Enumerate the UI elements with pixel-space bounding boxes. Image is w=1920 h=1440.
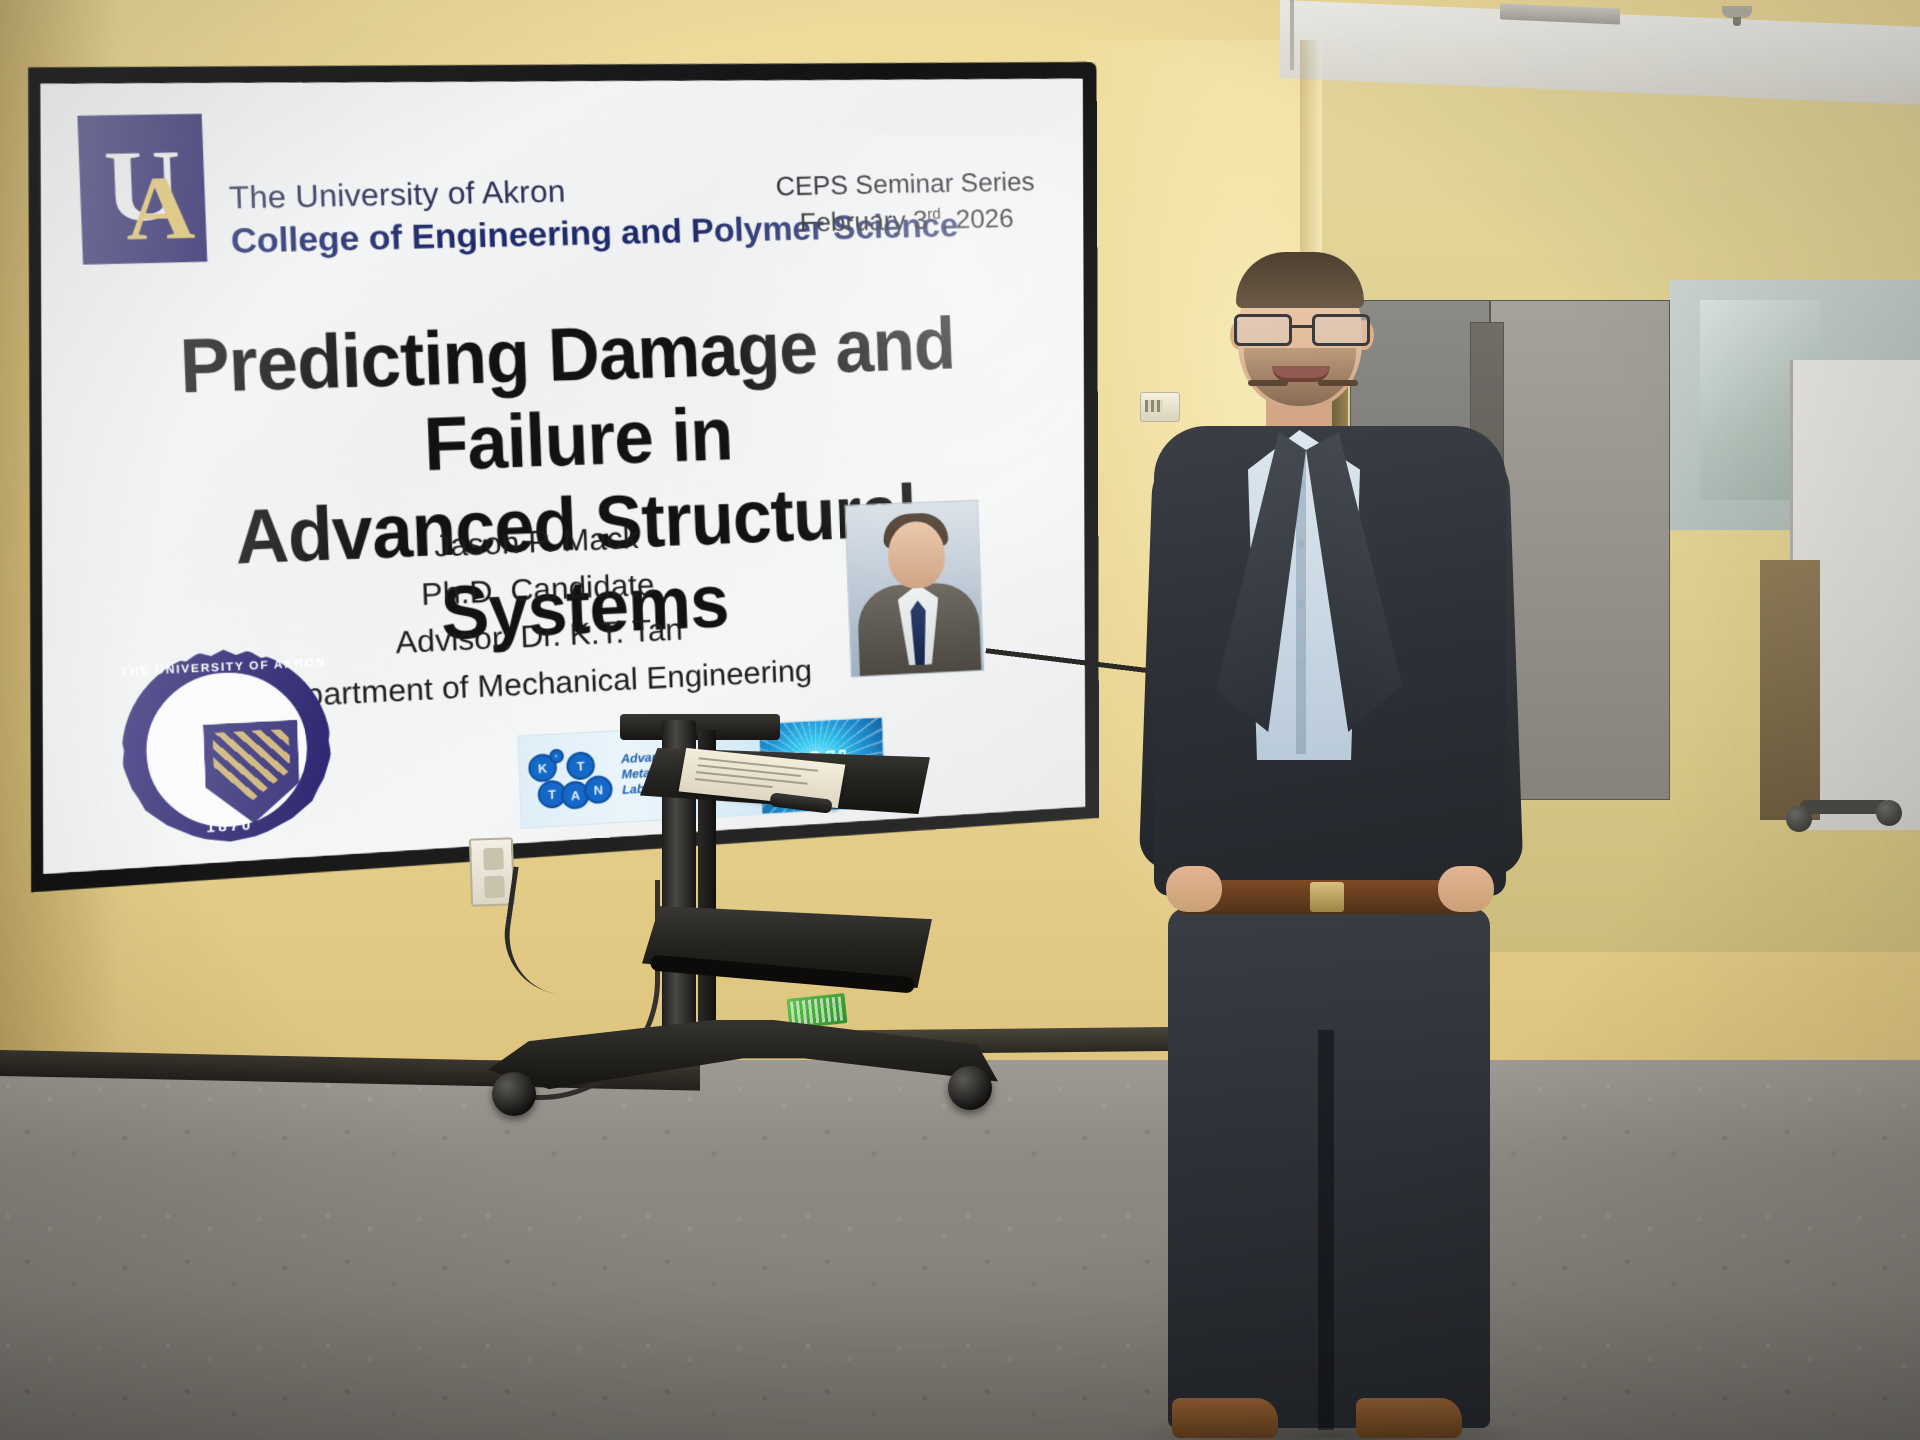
university-of-akron-ua-logo: U A <box>77 114 207 265</box>
presenter-headshot <box>844 500 984 678</box>
shirt-button <box>1297 600 1305 608</box>
ceiling-seam <box>1290 0 1294 70</box>
seminar-date-monthday: February 3 <box>799 204 928 237</box>
cart-base <box>488 1020 998 1116</box>
presenter-eyebrow <box>1248 380 1288 386</box>
mobile-av-cart[interactable] <box>470 720 1030 1140</box>
cart-caster <box>492 1072 536 1116</box>
slide-university-name: The University of Akron <box>228 175 566 217</box>
eyeglass-lens-left <box>1234 314 1292 346</box>
seminar-date: February 3rd, 2026 <box>776 200 1036 242</box>
presenter-eyebrow <box>1318 380 1358 386</box>
presenter-shoe <box>1172 1398 1278 1438</box>
photo-scene: U A The University of Akron College of E… <box>0 0 1920 1440</box>
shirt-button <box>1297 660 1305 668</box>
ceiling-sprinkler-head <box>1722 6 1752 18</box>
wood-cabinet <box>1760 560 1820 820</box>
eyeglass-bridge <box>1292 325 1312 328</box>
eyeglass-lens-right <box>1312 314 1370 346</box>
university-of-akron-seal: THE UNIVERSITY OF AKRON 1870 <box>118 645 334 856</box>
seminar-date-ordinal: rd <box>927 205 941 222</box>
presenter-hand <box>1166 866 1222 912</box>
ua-logo-letter-a: A <box>124 167 196 250</box>
trouser-seam <box>1318 1030 1334 1430</box>
chair-caster <box>1786 806 1812 832</box>
presenter <box>1120 240 1540 1440</box>
seminar-date-year: , 2026 <box>941 203 1015 235</box>
shirt-button <box>1297 540 1305 548</box>
cart-caster <box>948 1066 992 1110</box>
seminar-series-block: CEPS Seminar Series February 3rd, 2026 <box>775 164 1037 242</box>
presenter-hair <box>1236 252 1364 308</box>
chair-caster <box>1876 800 1902 826</box>
seminar-series-label: CEPS Seminar Series <box>775 164 1035 205</box>
eyeglasses-icon <box>1232 314 1372 348</box>
presenter-hand <box>1438 866 1494 912</box>
slide-title-line-1: Predicting Damage and Failure in <box>125 302 1008 499</box>
presenter-shoe <box>1356 1398 1462 1438</box>
belt-buckle <box>1310 882 1344 912</box>
